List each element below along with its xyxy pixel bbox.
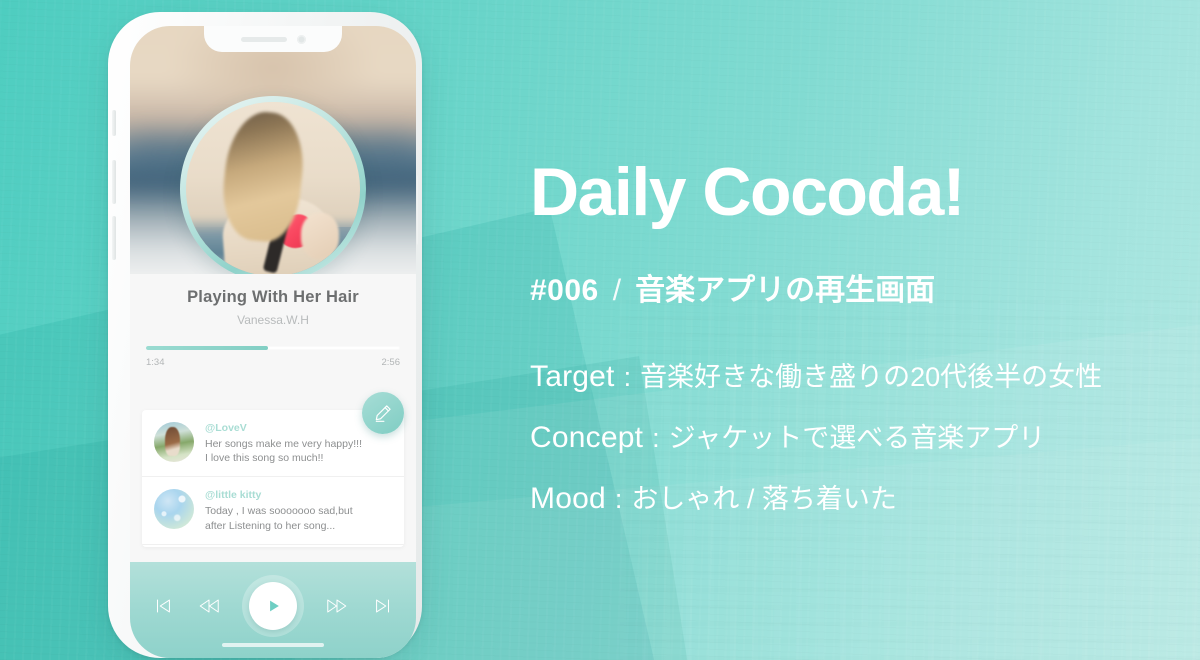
comment-text-line: I love this song so much!! xyxy=(205,451,392,465)
phone-mockup: Playing With Her Hair Vanessa.W.H 1:34 2… xyxy=(100,12,430,660)
subtitle-row: #006 / 音楽アプリの再生画面 xyxy=(530,265,935,309)
volume-down-button[interactable] xyxy=(112,216,116,260)
rewind-icon xyxy=(197,594,221,618)
meta-label: Concept xyxy=(530,421,643,455)
progress-bar[interactable]: 1:34 2:56 xyxy=(146,346,400,368)
rewind-button[interactable] xyxy=(196,593,222,619)
skip-previous-icon xyxy=(152,595,174,617)
meta-value: 音楽好きな働き盛りの20代後半の女性 xyxy=(640,355,1102,394)
comment-handle[interactable]: @LoveV xyxy=(205,422,392,434)
playback-controls xyxy=(150,575,396,637)
play-button-circle[interactable] xyxy=(249,582,297,630)
comment-handle[interactable]: @little kitty xyxy=(205,489,392,501)
subtitle-separator: / xyxy=(613,274,621,308)
progress-fill xyxy=(146,346,268,350)
elapsed-time: 1:34 xyxy=(146,357,165,368)
phone-notch xyxy=(204,26,342,52)
track-artist: Vanessa.W.H xyxy=(130,313,416,327)
meta-label: Target xyxy=(530,360,615,394)
meta-row-concept: Concept : ジャケットで選べる音楽アプリ xyxy=(530,416,1102,455)
time-labels: 1:34 2:56 xyxy=(146,357,400,368)
pencil-icon xyxy=(373,403,393,423)
meta-value: ジャケットで選べる音楽アプリ xyxy=(669,416,1046,455)
play-button[interactable] xyxy=(242,575,304,637)
fast-forward-button[interactable] xyxy=(324,593,350,619)
info-panel: Daily Cocoda! #006 / 音楽アプリの再生画面 Target :… xyxy=(530,0,1170,660)
silent-switch-button[interactable] xyxy=(112,110,116,136)
meta-colon: : xyxy=(652,423,660,454)
meta-colon: : xyxy=(624,362,632,393)
compose-comment-button[interactable] xyxy=(362,392,404,434)
brand-title: Daily Cocoda! xyxy=(530,158,964,226)
skip-next-icon xyxy=(372,595,394,617)
track-title: Playing With Her Hair xyxy=(130,288,416,307)
subtitle-text: 音楽アプリの再生画面 xyxy=(635,265,935,309)
total-duration: 2:56 xyxy=(382,357,401,368)
comment-text-line: Her songs make me very happy!!! xyxy=(205,437,392,451)
meta-label: Mood xyxy=(530,482,606,516)
album-hero xyxy=(130,26,416,274)
meta-value: おしゃれ / 落ち着いた xyxy=(631,477,897,516)
front-camera-icon xyxy=(297,35,306,44)
meta-list: Target : 音楽好きな働き盛りの20代後半の女性 Concept : ジャ… xyxy=(530,355,1102,538)
next-track-button[interactable] xyxy=(370,593,396,619)
track-info: Playing With Her Hair Vanessa.W.H 1:34 2… xyxy=(130,274,416,368)
presentation-slide: Playing With Her Hair Vanessa.W.H 1:34 2… xyxy=(0,0,1200,660)
issue-number: #006 xyxy=(530,274,599,308)
phone-screen: Playing With Her Hair Vanessa.W.H 1:34 2… xyxy=(130,26,416,658)
progress-track[interactable] xyxy=(146,346,400,350)
meta-row-target: Target : 音楽好きな働き盛りの20代後半の女性 xyxy=(530,355,1102,394)
comment-text-line: after Listening to her song... xyxy=(205,519,392,533)
phone-frame: Playing With Her Hair Vanessa.W.H 1:34 2… xyxy=(108,12,422,658)
play-icon xyxy=(263,596,283,616)
album-art-ring xyxy=(180,96,366,274)
avatar xyxy=(154,422,194,462)
volume-up-button[interactable] xyxy=(112,160,116,204)
player-control-bar xyxy=(130,562,416,658)
comment-list: @LoveV Her songs make me very happy!!! I… xyxy=(142,410,404,547)
artwork-figure-arm xyxy=(301,213,339,258)
meta-colon: : xyxy=(615,484,623,515)
previous-track-button[interactable] xyxy=(150,593,176,619)
home-indicator xyxy=(222,643,324,647)
comment-text-line: Today , I was sooooooo sad,but xyxy=(205,504,392,518)
meta-row-mood: Mood : おしゃれ / 落ち着いた xyxy=(530,477,1102,516)
avatar xyxy=(154,489,194,529)
fast-forward-icon xyxy=(325,594,349,618)
comment-item[interactable]: @little kitty Today , I was sooooooo sad… xyxy=(142,477,404,544)
speaker-slot-icon xyxy=(241,37,287,42)
album-artwork[interactable] xyxy=(186,102,360,274)
